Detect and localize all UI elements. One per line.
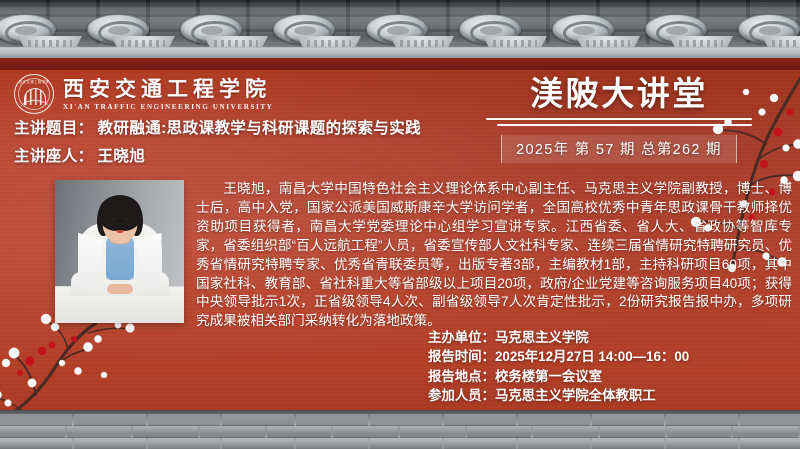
brick [592, 438, 664, 449]
speaker-portrait [55, 180, 184, 323]
lecture-speaker-line: 主讲座人：王晓旭 [14, 144, 145, 166]
series-title: 渼陂大讲堂 [486, 76, 752, 113]
event-detail-label: 报告地点： [428, 367, 495, 386]
brick [370, 414, 442, 426]
lecture-speaker-label: 主讲座人： [14, 148, 94, 165]
series-title-block: 渼陂大讲堂 2025年 第 57 期 总第262 期 [486, 76, 752, 163]
university-name-block: 西安交通工程学院 XI'AN TRAFFIC ENGINEERING UNIVE… [63, 77, 273, 111]
brick [200, 426, 265, 438]
brick-row [0, 438, 800, 449]
event-detail-row: 报告时间：2025年12月27日 14:00—16：00 [428, 347, 786, 366]
brick [296, 438, 368, 449]
lecture-topic-line: 主讲题目：教研融通:思政课教学与科研课题的探索与实践 [14, 116, 421, 138]
brick [444, 414, 516, 426]
event-detail-value: 2025年12月27日 14:00—16：00 [495, 347, 689, 366]
brick [0, 426, 65, 438]
seal-micro-text: 西安交通工程学院 [19, 79, 49, 84]
lecture-topic-label: 主讲题目： [14, 120, 94, 137]
lecture-poster: 西安交通工程学院 西安交通工程学院 XI'AN TRAFFIC ENGINEER… [0, 0, 800, 449]
brick [222, 438, 294, 449]
brick-row [0, 426, 800, 438]
brick [667, 426, 732, 438]
event-detail-row: 主办单位：马克思主义学院 [428, 328, 786, 347]
brick [296, 414, 368, 426]
university-logo: 西安交通工程学院 西安交通工程学院 XI'AN TRAFFIC ENGINEER… [14, 74, 273, 114]
university-seal-icon: 西安交通工程学院 [14, 74, 54, 114]
brick [666, 438, 738, 449]
brick [133, 426, 198, 438]
event-detail-row: 参加人员：马克思主义学院全体教职工 [428, 386, 786, 405]
brick [0, 414, 72, 426]
brick [518, 414, 590, 426]
portrait-hair-top [98, 195, 141, 231]
roof-red-lip [0, 58, 800, 70]
brick [148, 414, 220, 426]
brick [67, 426, 132, 438]
brick [333, 426, 398, 438]
speaker-biography: 王晓旭，南昌大学中国特色社会主义理论体系中心副主任、马克思主义学院副教授，博士、… [196, 180, 792, 331]
brick [370, 438, 442, 449]
brick [467, 426, 532, 438]
brick [222, 414, 294, 426]
brick [444, 438, 516, 449]
event-detail-label: 报告时间： [428, 347, 495, 366]
event-detail-label: 参加人员： [428, 386, 495, 405]
event-detail-label: 主办单位： [428, 328, 495, 347]
roof-eave-decoration [0, 0, 800, 70]
issue-badge: 2025年 第 57 期 总第262 期 [501, 135, 737, 163]
portrait-eye-left [110, 218, 115, 220]
event-detail-value: 马克思主义学院 [495, 328, 589, 347]
lecture-topic-value: 教研融通:思政课教学与科研课题的探索与实践 [98, 120, 422, 137]
brick [400, 426, 465, 438]
brick [74, 438, 146, 449]
university-name-cn: 西安交通工程学院 [63, 77, 273, 101]
event-detail-value: 马克思主义学院全体教职工 [495, 386, 656, 405]
brick [740, 414, 800, 426]
lecture-speaker-value: 王晓旭 [98, 148, 146, 165]
brick [592, 414, 664, 426]
brick-row [0, 414, 800, 426]
title-rule-upper [486, 118, 752, 120]
event-details-block: 主办单位：马克思主义学院报告时间：2025年12月27日 14:00—16：00… [428, 328, 786, 405]
brick-rows [0, 414, 800, 449]
brick [148, 438, 220, 449]
brick [733, 426, 798, 438]
portrait-eye-right [125, 218, 130, 220]
title-double-rule [486, 118, 752, 126]
event-detail-row: 报告地点：校务楼第一会议室 [428, 367, 786, 386]
brick [267, 426, 332, 438]
brick-base [0, 410, 800, 449]
brick [533, 426, 598, 438]
title-rule-lower [497, 124, 752, 126]
university-name-en: XI'AN TRAFFIC ENGINEERING UNIVERSITY [63, 103, 273, 111]
portrait-hands [107, 284, 133, 294]
brick [74, 414, 146, 426]
event-detail-value: 校务楼第一会议室 [495, 367, 602, 386]
brick [600, 426, 665, 438]
brick [666, 414, 738, 426]
brick [740, 438, 800, 449]
portrait-mouth [116, 230, 124, 233]
brick [518, 438, 590, 449]
brick [0, 438, 72, 449]
roof-ledge [0, 47, 800, 58]
